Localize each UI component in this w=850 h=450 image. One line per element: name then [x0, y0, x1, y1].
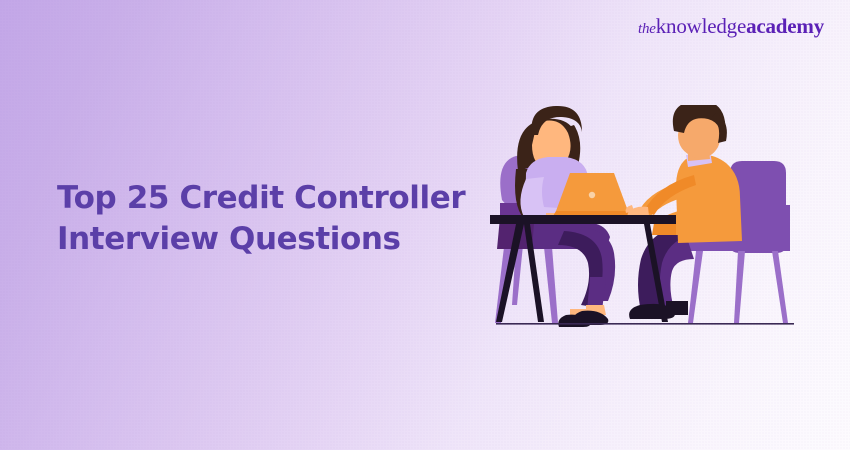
figure-interviewer-man [626, 105, 742, 319]
page-title-line-2: Interview Questions [57, 219, 477, 260]
banner-root: theknowledgeacademy Top 25 Credit Contro… [0, 0, 850, 450]
logo-word-academy: academy [746, 14, 824, 38]
logo-word-the: the [638, 21, 656, 37]
page-title: Top 25 Credit Controller Interview Quest… [57, 178, 477, 260]
interview-illustration [490, 105, 830, 340]
brand-logo[interactable]: theknowledgeacademy [638, 16, 824, 37]
interview-illustration-svg [490, 105, 830, 340]
floor-line [496, 323, 794, 325]
page-title-line-1: Top 25 Credit Controller [57, 180, 465, 216]
logo-word-knowledge: knowledge [656, 14, 746, 38]
